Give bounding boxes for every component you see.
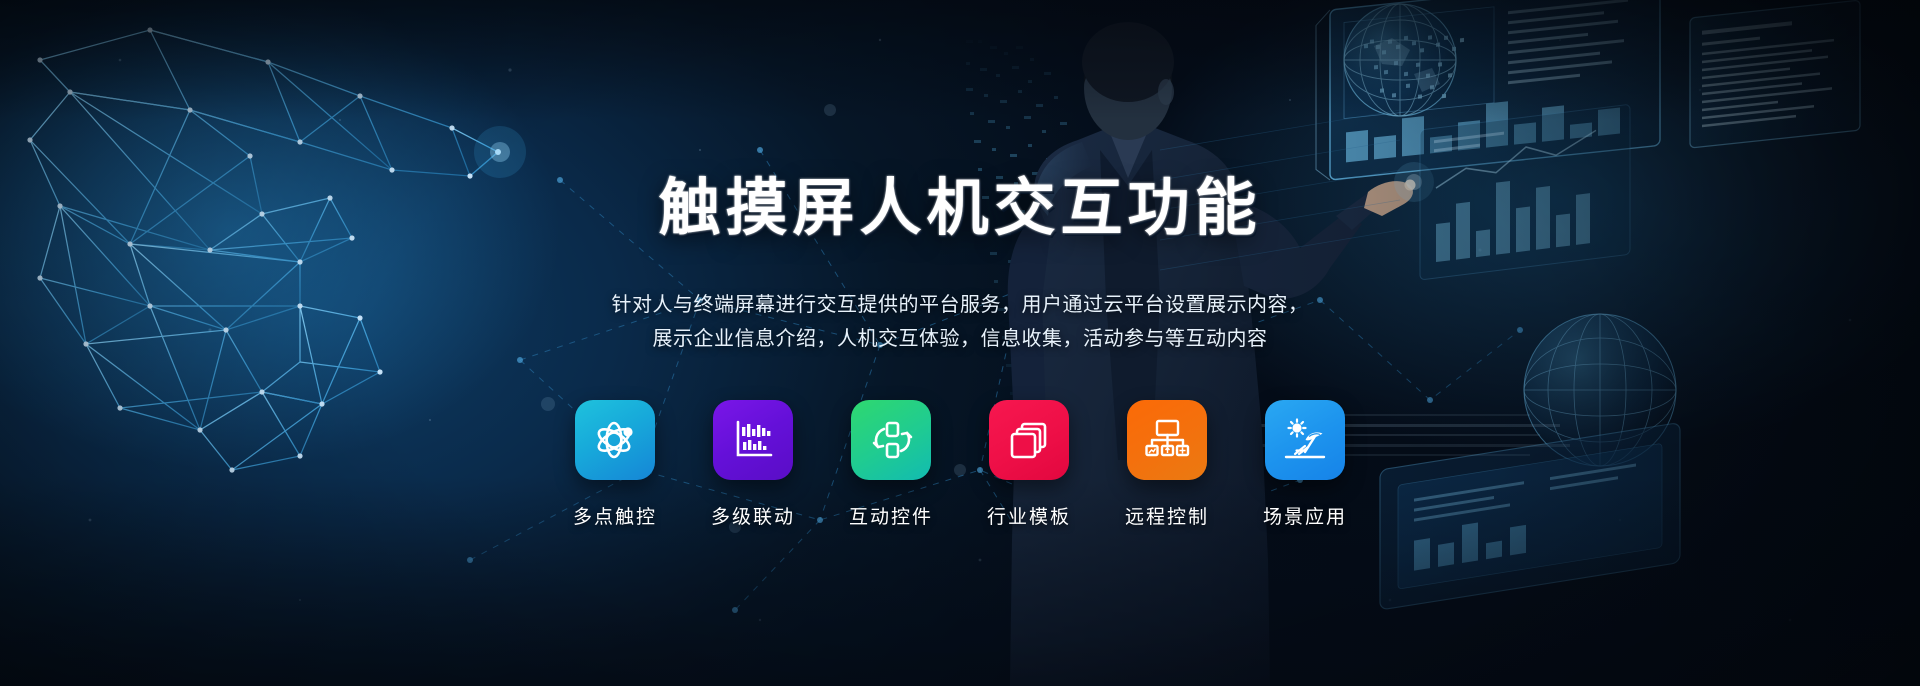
feature-item-industry-template[interactable]: 行业模板 bbox=[981, 400, 1077, 529]
beach-scene-icon bbox=[1281, 416, 1329, 464]
feature-label: 远程控制 bbox=[1125, 502, 1209, 529]
page-subtitle: 针对人与终端屏幕进行交互提供的平台服务，用户通过云平台设置展示内容， 展示企业信… bbox=[530, 288, 1390, 356]
feature-tile[interactable] bbox=[851, 400, 931, 480]
feature-item-interactive-widgets[interactable]: 互动控件 bbox=[843, 400, 939, 529]
feature-label: 多级联动 bbox=[711, 502, 795, 529]
feature-label: 场景应用 bbox=[1263, 502, 1347, 529]
feature-tile[interactable] bbox=[575, 400, 655, 480]
subtitle-line-1: 针对人与终端屏幕进行交互提供的平台服务，用户通过云平台设置展示内容， bbox=[530, 288, 1390, 322]
banner-stage: 触摸屏人机交互功能 针对人与终端屏幕进行交互提供的平台服务，用户通过云平台设置展… bbox=[0, 0, 1920, 686]
subtitle-line-2: 展示企业信息介绍，人机交互体验，信息收集，活动参与等互动内容 bbox=[530, 322, 1390, 356]
feature-tile[interactable] bbox=[713, 400, 793, 480]
feature-item-remote-control[interactable]: 远程控制 bbox=[1119, 400, 1215, 529]
atom-icon bbox=[591, 416, 639, 464]
feature-item-multilevel-linkage[interactable]: 多级联动 bbox=[705, 400, 801, 529]
feature-icon-row: 多点触控 bbox=[567, 400, 1353, 529]
feature-item-scene-application[interactable]: 场景应用 bbox=[1257, 400, 1353, 529]
remote-network-icon bbox=[1143, 416, 1191, 464]
feature-item-multitouch[interactable]: 多点触控 bbox=[567, 400, 663, 529]
feature-tile[interactable] bbox=[1265, 400, 1345, 480]
feature-label: 互动控件 bbox=[849, 502, 933, 529]
feature-tile[interactable] bbox=[1127, 400, 1207, 480]
page-title: 触摸屏人机交互功能 bbox=[0, 178, 1920, 240]
feature-label: 行业模板 bbox=[987, 502, 1071, 529]
layers-stack-icon bbox=[1005, 416, 1053, 464]
bar-chart-icon bbox=[729, 416, 777, 464]
content-layer: 触摸屏人机交互功能 针对人与终端屏幕进行交互提供的平台服务，用户通过云平台设置展… bbox=[0, 0, 1920, 686]
feature-tile[interactable] bbox=[989, 400, 1069, 480]
feature-label: 多点触控 bbox=[573, 502, 657, 529]
sync-widgets-icon bbox=[867, 416, 915, 464]
